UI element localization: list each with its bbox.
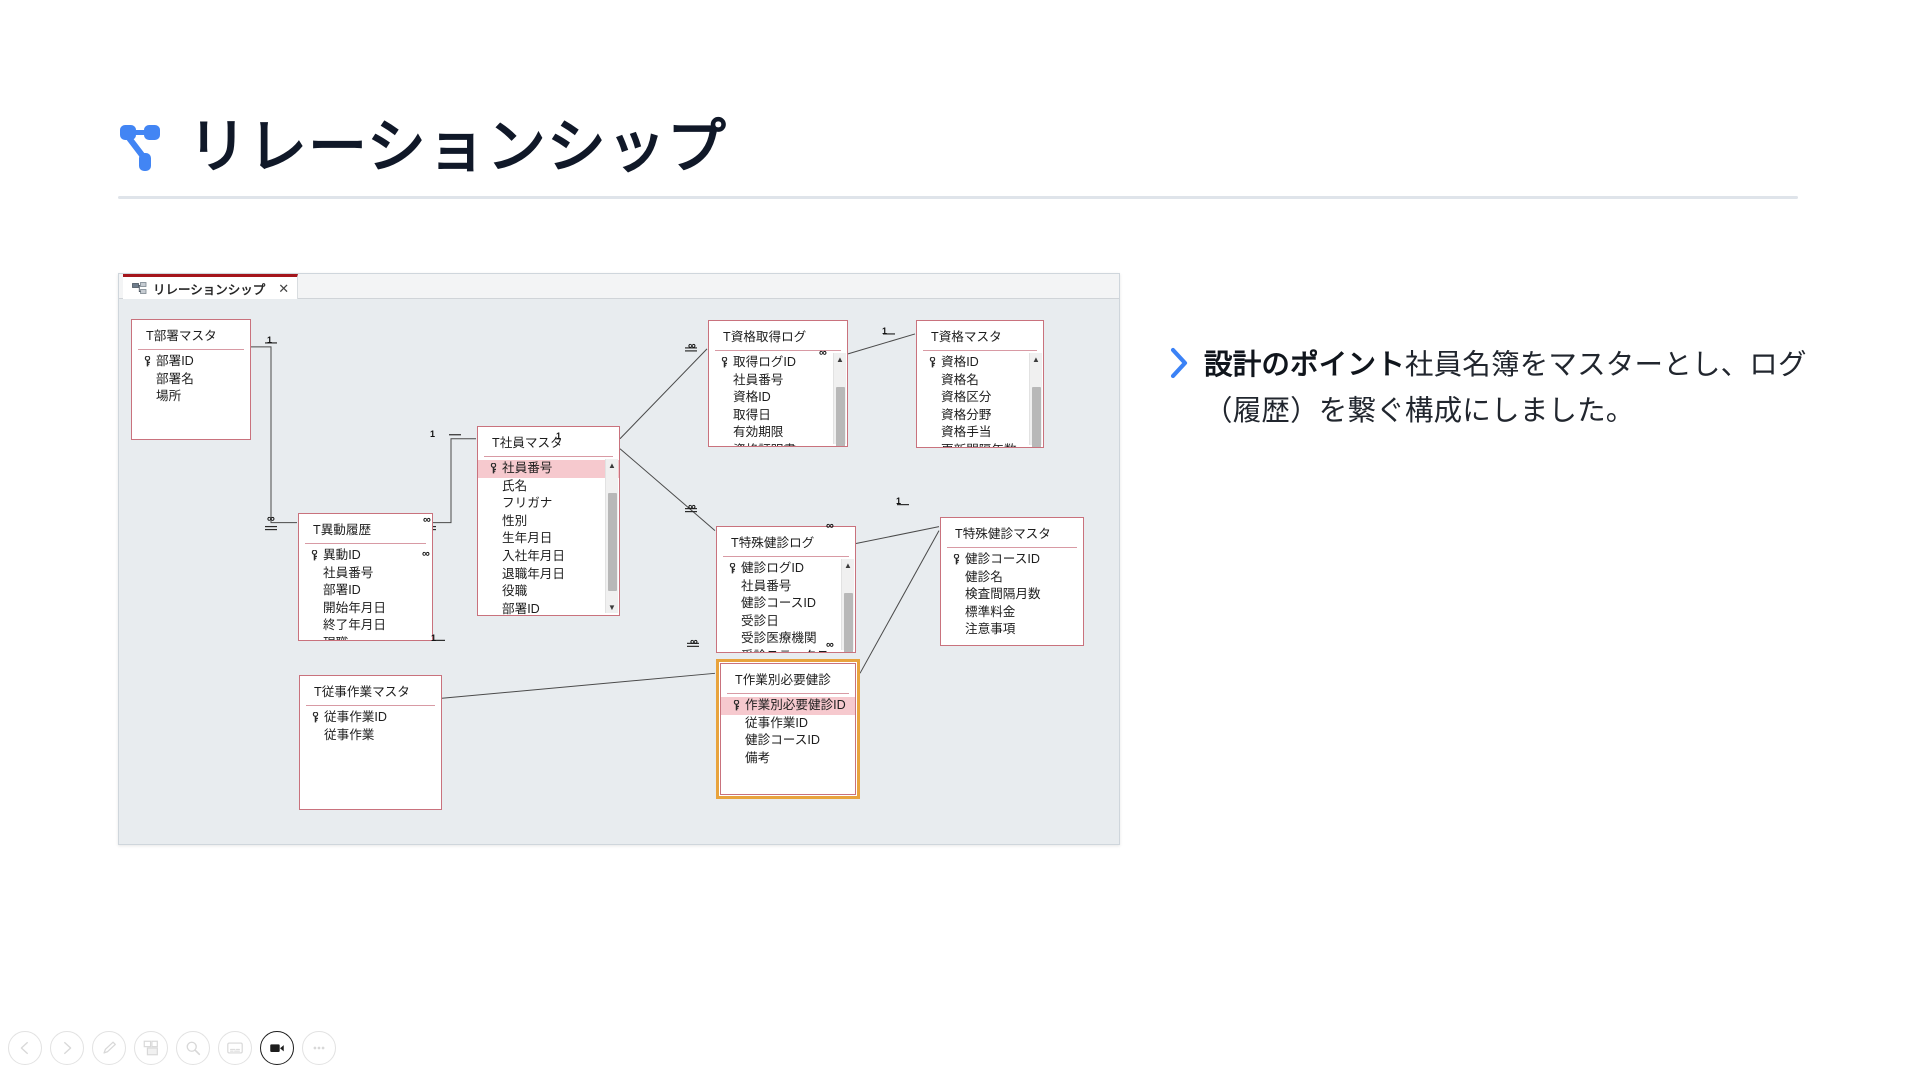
close-icon[interactable]: ✕ (278, 282, 289, 295)
table-field-label: 資格名 (941, 372, 979, 390)
table-field-label: 受診医療機関 (741, 630, 817, 648)
table-field-row[interactable]: 受診ステータス (717, 648, 855, 652)
primary-key-icon (485, 463, 502, 474)
table-field-label: 健診ログID (741, 560, 804, 578)
cardinality-label: ∞ (688, 502, 696, 513)
scrollbar-track[interactable] (834, 365, 847, 432)
table-field-row[interactable]: 従事作業ID (721, 715, 855, 733)
table-box-t-shain-master[interactable]: T社員マスタ社員番号氏名フリガナ性別生年月日入社年月日退職年月日役職部署ID▲▼ (477, 426, 620, 616)
scroll-down-icon[interactable]: ▼ (606, 601, 619, 613)
grid-layout-icon (142, 1039, 160, 1057)
table-box-t-jujisagyo-master[interactable]: T従事作業マスタ従事作業ID従事作業 (299, 675, 442, 810)
scrollbar-thumb[interactable] (1032, 387, 1041, 447)
table-field-label: 取得日 (733, 407, 771, 425)
scroll-up-icon[interactable]: ▲ (842, 559, 855, 571)
table-field-row[interactable]: 標準料金 (941, 604, 1083, 622)
slide-root: リレーションシップ リレーションシップ ✕ (0, 0, 1919, 1079)
table-field-row[interactable]: 社員番号 (717, 578, 855, 596)
table-inner: T特殊健診ログ健診ログID社員番号健診コースID受診日受診医療機関受診ステータス… (717, 527, 855, 652)
table-title: T従事作業マスタ (300, 676, 441, 705)
table-field-label: 場所 (156, 388, 181, 406)
cardinality-label: 1 (896, 497, 901, 506)
table-box-t-shikaku-master[interactable]: T資格マスタ資格ID資格名資格区分資格分野資格手当更新間隔年数備考▲▼ (916, 320, 1044, 448)
next-slide-button[interactable] (50, 1031, 84, 1065)
table-scrollbar[interactable]: ▲▼ (833, 353, 846, 444)
primary-key-icon (728, 700, 745, 711)
table-field-row[interactable]: 生年月日 (478, 530, 619, 548)
table-field-row[interactable]: 資格手当 (917, 424, 1043, 442)
table-field-list: 取得ログID社員番号資格ID取得日有効期限資格証明書資格証明書ID▲▼ (709, 351, 847, 446)
table-field-label: 取得ログID (733, 354, 796, 372)
primary-key-icon (948, 554, 965, 565)
table-field-label: 従事作業 (324, 727, 374, 745)
table-field-label: 資格分野 (941, 407, 991, 425)
cardinality-label: 1 (267, 336, 272, 345)
table-scrollbar[interactable]: ▲▼ (841, 559, 854, 650)
tab-label: リレーションシップ (153, 279, 265, 298)
table-field-row[interactable]: 資格名 (917, 372, 1043, 390)
zoom-button[interactable] (176, 1031, 210, 1065)
table-field-label: 氏名 (502, 478, 527, 496)
table-field-row[interactable]: 資格ID (709, 389, 847, 407)
table-field-row[interactable]: 健診名 (941, 569, 1083, 587)
table-field-row[interactable]: 場所 (132, 388, 250, 406)
more-options-button[interactable] (302, 1031, 336, 1065)
cardinality-label: 1 (882, 327, 887, 336)
table-field-row[interactable]: 注意事項 (941, 621, 1083, 639)
table-field-list: 健診ログID社員番号健診コースID受診日受診医療機関受診ステータス受診結果▲▼ (717, 557, 855, 652)
table-field-row[interactable]: 更新間隔年数 (917, 442, 1043, 447)
table-inner: T部署マスタ部署ID部署名場所 (132, 320, 250, 439)
captions-icon (226, 1039, 244, 1057)
table-field-label: 従事作業ID (745, 715, 808, 733)
table-field-label: 資格証明書 (733, 442, 796, 446)
cardinality-label: ∞ (267, 514, 275, 525)
table-field-list: 従事作業ID従事作業 (300, 706, 441, 809)
header-divider (118, 196, 1798, 199)
table-field-label: 社員番号 (733, 372, 783, 390)
table-inner: T従事作業マスタ従事作業ID従事作業 (300, 676, 441, 809)
table-field-label: フリガナ (502, 495, 552, 513)
table-field-row[interactable]: 部署ID (299, 582, 432, 600)
table-field-label: 資格ID (733, 389, 771, 407)
table-field-row[interactable]: 社員番号 (299, 565, 432, 583)
cardinality-label: ∞ (688, 341, 696, 352)
table-field-row[interactable]: 資格分野 (917, 407, 1043, 425)
access-relationships-window: リレーションシップ ✕ (118, 273, 1120, 845)
table-field-row[interactable]: 受診日 (717, 613, 855, 631)
previous-slide-button[interactable] (8, 1031, 42, 1065)
table-field-label: 更新間隔年数 (941, 442, 1017, 447)
table-field-row[interactable]: 健診コースID (717, 595, 855, 613)
table-field-label: 資格ID (941, 354, 979, 372)
chevron-right-icon (1168, 344, 1190, 382)
cardinality-label: ∞ (690, 637, 698, 648)
scroll-up-icon[interactable]: ▲ (834, 353, 847, 365)
table-title: T部署マスタ (132, 320, 250, 349)
table-field-list: 資格ID資格名資格区分資格分野資格手当更新間隔年数備考▲▼ (917, 351, 1043, 447)
relationship-graph-icon (118, 119, 162, 175)
primary-key-icon (139, 356, 156, 367)
table-field-label: 標準料金 (965, 604, 1015, 622)
table-field-row[interactable]: 従事作業 (300, 727, 441, 745)
table-title: T作業別必要健診 (721, 664, 855, 693)
primary-key-icon (716, 357, 733, 368)
table-field-row[interactable]: 現職 (299, 635, 432, 640)
table-field-row[interactable]: 氏名 (478, 478, 619, 496)
table-field-label: 作業別必要健診ID (745, 697, 846, 715)
cardinality-label: ∞ (826, 640, 834, 651)
table-field-label: 終了年月日 (323, 617, 386, 635)
table-inner: T特殊健診マスタ健診コースID健診名検査間隔月数標準料金注意事項 (941, 518, 1083, 645)
table-field-row[interactable]: 退職年月日 (478, 566, 619, 584)
table-field-label: 性別 (502, 513, 527, 531)
table-field-label: 社員番号 (741, 578, 791, 596)
table-field-row[interactable]: 備考 (721, 750, 855, 768)
table-field-row[interactable]: 資格区分 (917, 389, 1043, 407)
table-box-t-tokushu-kenshin-master[interactable]: T特殊健診マスタ健診コースID健診名検査間隔月数標準料金注意事項 (940, 517, 1084, 646)
magnifier-icon (184, 1039, 202, 1057)
table-field-row[interactable]: 入社年月日 (478, 548, 619, 566)
table-field-label: 部署名 (156, 371, 194, 389)
table-field-list: 部署ID部署名場所 (132, 350, 250, 439)
table-title: T特殊健診マスタ (941, 518, 1083, 547)
scrollbar-thumb[interactable] (608, 493, 617, 591)
table-field-row[interactable]: 有効期限 (709, 424, 847, 442)
table-field-label: 健診コースID (965, 551, 1040, 569)
table-field-label: 健診コースID (745, 732, 820, 750)
relationships-tab-icon (132, 282, 147, 295)
table-field-row[interactable]: 異動ID (299, 547, 432, 565)
table-field-row[interactable]: 取得日 (709, 407, 847, 425)
relationships-canvas[interactable]: T部署マスタ部署ID部署名場所T異動履歴異動ID社員番号部署ID開始年月日終了年… (119, 299, 1119, 844)
table-field-row[interactable]: 作業別必要健診ID (721, 697, 855, 715)
table-field-row[interactable]: 健診コースID (941, 551, 1083, 569)
table-field-label: 健診名 (965, 569, 1003, 587)
tab-relationships[interactable]: リレーションシップ ✕ (123, 274, 298, 299)
scrollbar-track[interactable] (1030, 365, 1043, 433)
access-tab-strip: リレーションシップ ✕ (119, 274, 1119, 299)
table-box-t-shikaku-shutoku-log[interactable]: T資格取得ログ取得ログID社員番号資格ID取得日有効期限資格証明書資格証明書ID… (708, 320, 848, 447)
cardinality-label: 1 (431, 634, 436, 643)
table-field-row[interactable]: 役職 (478, 583, 619, 601)
table-field-row[interactable]: 受診医療機関 (717, 630, 855, 648)
table-field-label: 社員番号 (502, 460, 552, 478)
table-field-row[interactable]: 部署ID (132, 353, 250, 371)
table-field-label: 検査間隔月数 (965, 586, 1041, 604)
table-inner: T資格マスタ資格ID資格名資格区分資格分野資格手当更新間隔年数備考▲▼ (917, 321, 1043, 447)
table-field-label: 受診ステータス (741, 648, 829, 652)
table-field-label: 資格区分 (941, 389, 991, 407)
table-field-list: 健診コースID健診名検査間隔月数標準料金注意事項 (941, 548, 1083, 645)
table-field-label: 有効期限 (733, 424, 783, 442)
video-camera-icon (268, 1039, 286, 1057)
cardinality-label: ∞ (826, 521, 834, 532)
pen-icon (100, 1039, 118, 1057)
table-field-row[interactable]: 資格証明書 (709, 442, 847, 446)
table-field-label: 受診日 (741, 613, 779, 631)
design-note: 設計のポイント社員名簿をマスターとし、ログ（履歴）を繋ぐ構成にしました。 (1168, 342, 1858, 434)
design-note-lead: 設計のポイント (1204, 349, 1405, 381)
table-box-t-sagyobetsu-hitsuyo-kenshin[interactable]: T作業別必要健診作業別必要健診ID従事作業ID健診コースID備考 (716, 659, 860, 799)
table-field-list: 異動ID社員番号部署ID開始年月日終了年月日現職 (299, 544, 432, 640)
table-inner: T異動履歴異動ID社員番号部署ID開始年月日終了年月日現職 (299, 514, 432, 640)
table-field-label: 役職 (502, 583, 527, 601)
primary-key-icon (306, 550, 323, 561)
table-field-row[interactable]: 部署ID (478, 601, 619, 615)
table-field-row[interactable]: 性別 (478, 513, 619, 531)
triangle-left-icon (16, 1039, 34, 1057)
table-field-label: 退職年月日 (502, 566, 565, 584)
table-box-t-tokushu-kenshin-log[interactable]: T特殊健診ログ健診ログID社員番号健診コースID受診日受診医療機関受診ステータス… (716, 526, 856, 653)
scroll-up-icon[interactable]: ▲ (606, 459, 619, 471)
table-field-label: 入社年月日 (502, 548, 565, 566)
design-note-text: 設計のポイント社員名簿をマスターとし、ログ（履歴）を繋ぐ構成にしました。 (1204, 342, 1858, 434)
table-field-label: 備考 (745, 750, 770, 768)
table-title: T異動履歴 (299, 514, 432, 543)
ellipsis-icon (310, 1039, 328, 1057)
cardinality-label: ∞ (423, 515, 431, 526)
table-field-row[interactable]: 検査間隔月数 (941, 586, 1083, 604)
table-inner: T作業別必要健診作業別必要健診ID従事作業ID健診コースID備考 (720, 663, 856, 795)
table-inner: T社員マスタ社員番号氏名フリガナ性別生年月日入社年月日退職年月日役職部署ID▲▼ (478, 427, 619, 615)
table-field-label: 健診コースID (741, 595, 816, 613)
table-title: T特殊健診ログ (717, 527, 855, 556)
table-field-label: 資格手当 (941, 424, 991, 442)
cardinality-label: 1 (556, 432, 561, 441)
table-field-list: 社員番号氏名フリガナ性別生年月日入社年月日退職年月日役職部署ID▲▼ (478, 457, 619, 615)
record-button[interactable] (260, 1031, 294, 1065)
table-field-label: 従事作業ID (324, 709, 387, 727)
table-field-label: 注意事項 (965, 621, 1015, 639)
table-scrollbar[interactable]: ▲▼ (605, 459, 618, 613)
table-field-row[interactable]: 健診ログID (717, 560, 855, 578)
table-box-t-busho-master[interactable]: T部署マスタ部署ID部署名場所 (131, 319, 251, 440)
presentation-toolbar (8, 1031, 336, 1065)
table-field-list: 作業別必要健診ID従事作業ID健診コースID備考 (721, 694, 855, 794)
table-field-row[interactable]: 社員番号 (709, 372, 847, 390)
cardinality-label: 1 (430, 430, 435, 439)
scrollbar-track[interactable] (842, 571, 855, 638)
table-field-row[interactable]: 終了年月日 (299, 617, 432, 635)
table-scrollbar[interactable]: ▲▼ (1029, 353, 1042, 445)
table-title: T資格マスタ (917, 321, 1043, 350)
table-field-row[interactable]: 資格ID (917, 354, 1043, 372)
cardinality-label: ∞ (819, 348, 827, 359)
primary-key-icon (724, 563, 741, 574)
table-field-label: 現職 (323, 635, 348, 640)
table-field-row[interactable]: 社員番号 (478, 460, 619, 478)
table-field-row[interactable]: 健診コースID (721, 732, 855, 750)
triangle-right-icon (58, 1039, 76, 1057)
table-title: T資格取得ログ (709, 321, 847, 350)
table-field-label: 開始年月日 (323, 600, 386, 618)
scroll-up-icon[interactable]: ▲ (1030, 353, 1043, 365)
table-title: T社員マスタ (478, 427, 619, 456)
table-box-t-ido-rireki[interactable]: T異動履歴異動ID社員番号部署ID開始年月日終了年月日現職 (298, 513, 433, 641)
slide-overview-button[interactable] (134, 1031, 168, 1065)
table-field-label: 異動ID (323, 547, 361, 565)
table-field-label: 部署ID (323, 582, 361, 600)
table-field-label: 生年月日 (502, 530, 552, 548)
table-field-row[interactable]: フリガナ (478, 495, 619, 513)
captions-button[interactable] (218, 1031, 252, 1065)
scrollbar-track[interactable] (606, 471, 619, 601)
primary-key-icon (924, 357, 941, 368)
primary-key-icon (307, 712, 324, 723)
cardinality-label: ∞ (422, 549, 430, 560)
page-title: リレーションシップ (188, 118, 727, 177)
scrollbar-thumb[interactable] (844, 593, 853, 652)
table-field-row[interactable]: 部署名 (132, 371, 250, 389)
table-field-label: 社員番号 (323, 565, 373, 583)
table-field-label: 部署ID (502, 601, 540, 615)
table-field-label: 部署ID (156, 353, 194, 371)
pen-tool-button[interactable] (92, 1031, 126, 1065)
table-field-row[interactable]: 従事作業ID (300, 709, 441, 727)
scrollbar-thumb[interactable] (836, 387, 845, 446)
table-field-row[interactable]: 開始年月日 (299, 600, 432, 618)
table-inner: T資格取得ログ取得ログID社員番号資格ID取得日有効期限資格証明書資格証明書ID… (709, 321, 847, 446)
